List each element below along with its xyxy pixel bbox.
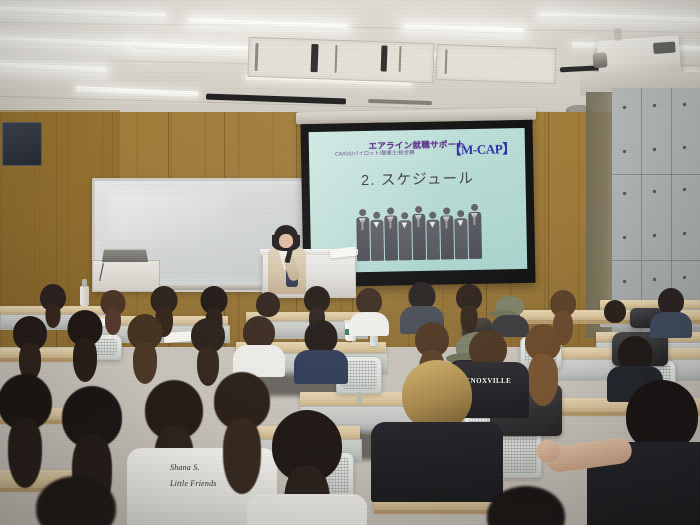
audience-member bbox=[392, 360, 482, 490]
audience-member bbox=[122, 314, 168, 372]
audience-member bbox=[352, 288, 386, 332]
audience-member bbox=[452, 284, 486, 330]
projector-lens bbox=[593, 52, 608, 68]
slide-heading: 2. スケジュール bbox=[361, 167, 474, 190]
hand bbox=[536, 440, 560, 462]
ceiling-light bbox=[0, 36, 136, 48]
slide-photo-suited-group bbox=[349, 197, 488, 262]
audience-member bbox=[238, 316, 280, 370]
audience-member bbox=[0, 374, 60, 474]
audience-member bbox=[262, 410, 352, 525]
baseball-cap bbox=[496, 296, 524, 316]
ceiling-light bbox=[76, 86, 198, 98]
lecture-hall-photo: エアライン就職サポート CA/GS/パイロット/整備士/総合職 【M-CAP】 … bbox=[0, 0, 700, 525]
audience-member bbox=[300, 320, 342, 376]
audience-member bbox=[28, 476, 124, 525]
ceiling-air-vent bbox=[435, 44, 556, 84]
ceiling-light bbox=[188, 18, 348, 30]
ceiling-light bbox=[404, 24, 524, 34]
slide-brand: 【M-CAP】 bbox=[448, 138, 515, 158]
ceiling-light-housing bbox=[368, 99, 432, 105]
ceiling-light bbox=[540, 12, 700, 23]
ceiling-light bbox=[0, 6, 166, 19]
wall-mounted-monitor bbox=[2, 122, 42, 166]
ceiling-light bbox=[0, 62, 106, 73]
audience-member bbox=[654, 288, 688, 332]
laptop bbox=[102, 250, 148, 262]
audience-member bbox=[600, 300, 630, 336]
sweatshirt-script-line1: Shana S. bbox=[170, 462, 200, 474]
audience-member bbox=[478, 486, 574, 525]
audience-member bbox=[8, 316, 52, 372]
hand-sanitizer-bottle bbox=[80, 286, 89, 306]
audience-member bbox=[186, 318, 230, 376]
ceiling-air-vent bbox=[247, 37, 434, 83]
audience-member bbox=[62, 310, 108, 370]
